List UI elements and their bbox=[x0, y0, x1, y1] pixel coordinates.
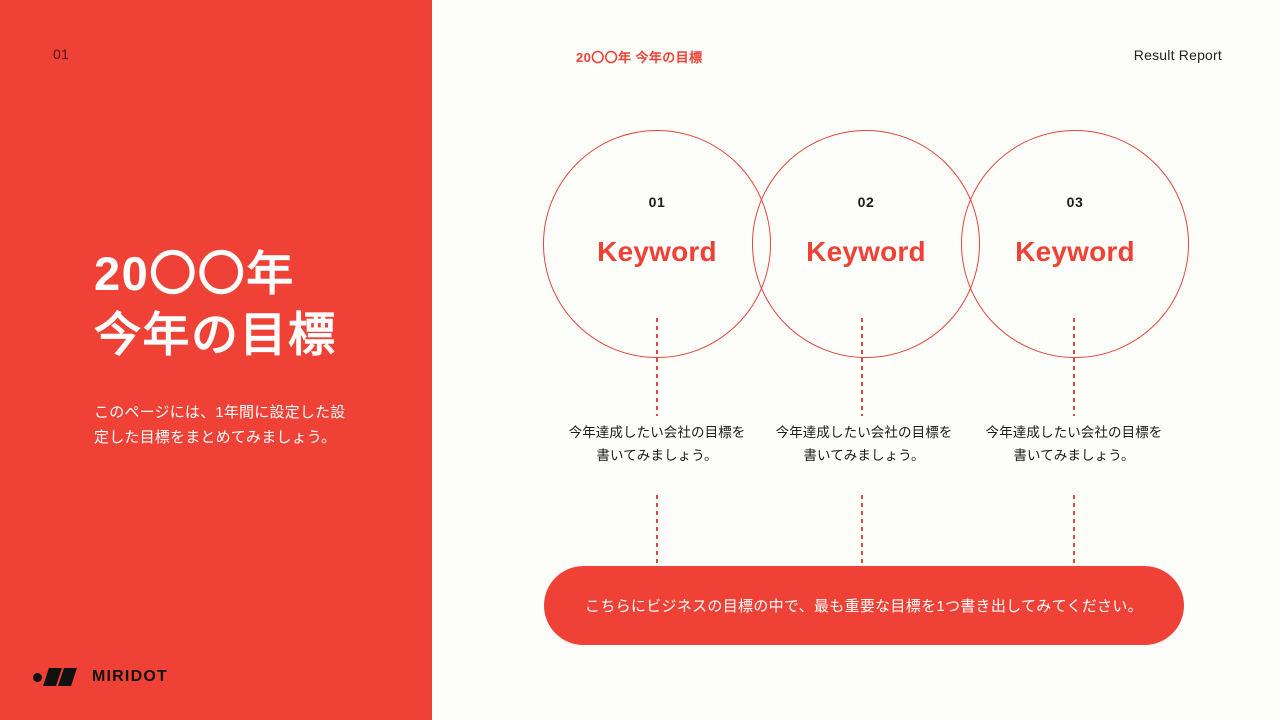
venn-keyword-3: Keyword bbox=[961, 236, 1189, 268]
connector-dotted-line-top-1 bbox=[656, 318, 658, 416]
connector-dotted-line-bottom-3 bbox=[1073, 495, 1075, 567]
venn-number-2: 02 bbox=[752, 194, 980, 210]
page-title-line-2: 今年の目標 bbox=[94, 304, 337, 365]
slide: 01 20〇〇年 今年の目標 このページには、1年間に設定した設定した目標をまと… bbox=[0, 0, 1280, 720]
venn-number-1: 01 bbox=[543, 194, 771, 210]
venn-description-3: 今年達成したい会社の目標を書いてみましょう。 bbox=[984, 421, 1164, 467]
page-description: このページには、1年間に設定した設定した目標をまとめてみましょう。 bbox=[94, 400, 346, 450]
venn-diagram: 01 Keyword 02 Keyword 03 Keyword 今年達成したい… bbox=[432, 0, 1280, 720]
page-title-line-1: 20〇〇年 bbox=[94, 243, 337, 304]
logo-wordmark: MIRIDOT bbox=[92, 668, 168, 686]
logo-dot-shape bbox=[33, 673, 42, 682]
venn-description-2: 今年達成したい会社の目標を書いてみましょう。 bbox=[774, 421, 954, 467]
left-cover-panel: 01 20〇〇年 今年の目標 このページには、1年間に設定した設定した目標をまと… bbox=[0, 0, 432, 720]
venn-number-3: 03 bbox=[961, 194, 1189, 210]
brand-logo: MIRIDOT bbox=[33, 667, 168, 687]
right-content-panel: 20〇〇年 今年の目標 Result Report 01 Keyword 02 … bbox=[432, 0, 1280, 720]
connector-dotted-line-top-2 bbox=[861, 318, 863, 416]
summary-banner: こちらにビジネスの目標の中で、最も重要な目標を1つ書き出してみてください。 bbox=[544, 566, 1184, 645]
connector-dotted-line-bottom-1 bbox=[656, 495, 658, 567]
venn-keyword-1: Keyword bbox=[543, 236, 771, 268]
venn-description-1: 今年達成したい会社の目標を書いてみましょう。 bbox=[567, 421, 747, 467]
page-number: 01 bbox=[53, 46, 69, 62]
page-title: 20〇〇年 今年の目標 bbox=[94, 243, 337, 365]
venn-keyword-2: Keyword bbox=[752, 236, 980, 268]
connector-dotted-line-top-3 bbox=[1073, 318, 1075, 416]
connector-dotted-line-bottom-2 bbox=[861, 495, 863, 567]
logo-mark-icon bbox=[33, 667, 83, 687]
